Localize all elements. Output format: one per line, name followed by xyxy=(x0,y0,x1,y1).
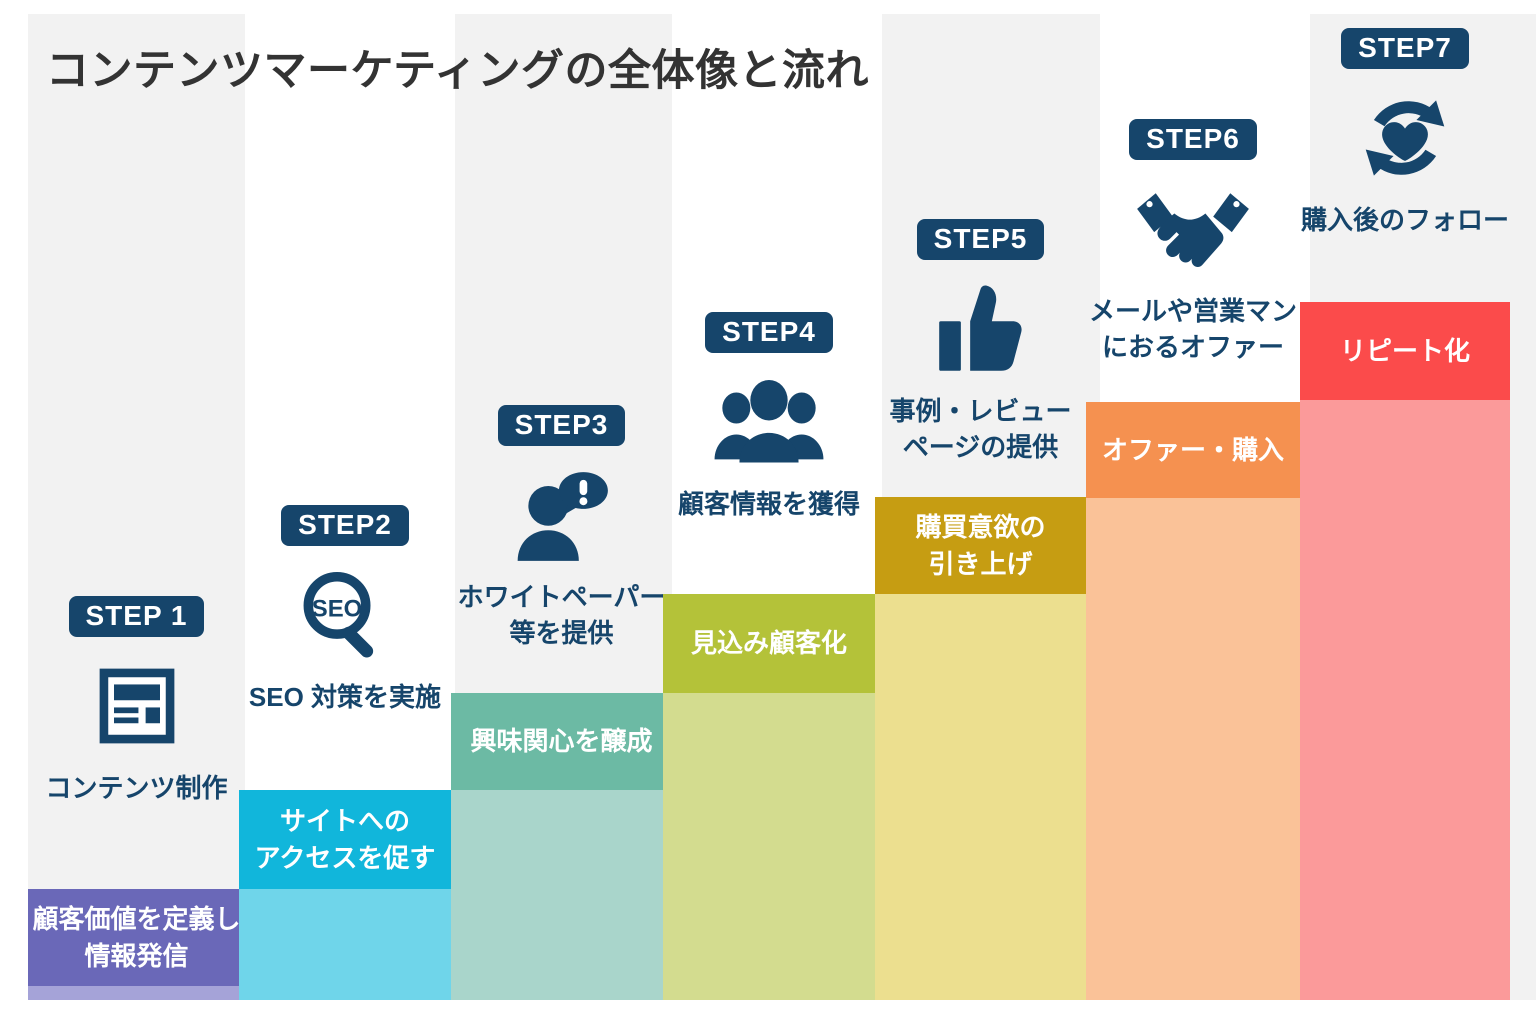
step-bar-2[interactable]: サイトへの アクセスを促す xyxy=(239,790,451,889)
step-bar-5[interactable]: 購買意欲の 引き上げ xyxy=(875,497,1086,594)
step-tail-7 xyxy=(1300,400,1510,1000)
step-tail-2 xyxy=(239,889,451,1000)
step-badge-7[interactable]: STEP7 xyxy=(1341,28,1469,69)
seo-magnifier-icon: SEO xyxy=(239,560,451,670)
step-tail-1 xyxy=(28,986,245,1000)
step-caption-7: 購入後のフォロー xyxy=(1300,203,1510,239)
step-column-7[interactable]: リピート化STEP7 購入後のフォロー xyxy=(1300,0,1510,1000)
step-badge-3[interactable]: STEP3 xyxy=(498,405,626,446)
step-caption-2: SEO 対策を実施 xyxy=(239,680,451,716)
step-badge-5[interactable]: STEP5 xyxy=(917,219,1045,260)
step-caption-1: コンテンツ制作 xyxy=(28,771,245,807)
thumbs-up-icon xyxy=(875,274,1086,384)
step-tail-4 xyxy=(663,693,875,1000)
step-column-6[interactable]: オファー・購入STEP6 メールや営業マン におるオファー xyxy=(1086,0,1300,1000)
step-header-3: STEP3 ホワイトペーパー 等を提供 xyxy=(451,405,672,652)
step-bar-label-5: 購買意欲の 引き上げ xyxy=(915,509,1045,582)
step-bar-label-3: 興味関心を醸成 xyxy=(470,723,652,759)
step-column-5[interactable]: 購買意欲の 引き上げSTEP5 事例・レビュー ページの提供 xyxy=(875,0,1086,1000)
step-tail-5 xyxy=(875,594,1086,1000)
step-bar-label-6: オファー・購入 xyxy=(1102,432,1284,468)
step-bar-3[interactable]: 興味関心を醸成 xyxy=(451,693,672,790)
step-tail-3 xyxy=(451,790,672,1000)
step-column-1[interactable]: 顧客価値を定義し 情報発信STEP 1 コンテンツ制作 xyxy=(28,0,245,1000)
step-bar-label-7: リピート化 xyxy=(1340,333,1470,369)
svg-text:SEO: SEO xyxy=(312,596,362,623)
step-column-3[interactable]: 興味関心を醸成STEP3 ホワイトペーパー 等を提供 xyxy=(451,0,672,1000)
handshake-icon xyxy=(1086,174,1300,284)
person-speech-bubble-icon xyxy=(451,460,672,570)
page-title: コンテンツマーケティングの全体像と流れ xyxy=(46,36,869,98)
step-bar-label-1: 顧客価値を定義し 情報発信 xyxy=(32,901,240,974)
content-document-icon xyxy=(28,651,245,761)
infographic-canvas: コンテンツマーケティングの全体像と流れ 顧客価値を定義し 情報発信STEP 1 … xyxy=(0,0,1536,1022)
step-header-1: STEP 1 コンテンツ制作 xyxy=(28,596,245,807)
step-header-6: STEP6 メールや営業マン におるオファー xyxy=(1086,119,1300,366)
step-tail-6 xyxy=(1086,498,1300,1000)
step-badge-2[interactable]: STEP2 xyxy=(281,505,409,546)
step-caption-4: 顧客情報を獲得 xyxy=(663,487,875,523)
step-badge-6[interactable]: STEP6 xyxy=(1129,119,1257,160)
step-column-2[interactable]: サイトへの アクセスを促すSTEP2 SEOSEO 対策を実施 xyxy=(239,0,451,1000)
step-bar-6[interactable]: オファー・購入 xyxy=(1086,402,1300,498)
step-bar-7[interactable]: リピート化 xyxy=(1300,302,1510,400)
step-header-5: STEP5 事例・レビュー ページの提供 xyxy=(875,219,1086,466)
repeat-heart-icon xyxy=(1300,83,1510,193)
step-badge-1[interactable]: STEP 1 xyxy=(69,596,205,637)
step-column-4[interactable]: 見込み顧客化STEP4 顧客情報を獲得 xyxy=(663,0,875,1000)
step-header-2: STEP2 SEOSEO 対策を実施 xyxy=(239,505,451,716)
step-header-7: STEP7 購入後のフォロー xyxy=(1300,28,1510,239)
step-caption-6: メールや営業マン におるオファー xyxy=(1086,294,1300,366)
step-caption-5: 事例・レビュー ページの提供 xyxy=(875,394,1086,466)
step-bar-4[interactable]: 見込み顧客化 xyxy=(663,594,875,693)
step-caption-3: ホワイトペーパー 等を提供 xyxy=(451,580,672,652)
step-badge-4[interactable]: STEP4 xyxy=(705,312,833,353)
step-bar-1[interactable]: 顧客価値を定義し 情報発信 xyxy=(28,889,245,986)
step-bar-label-2: サイトへの アクセスを促す xyxy=(255,803,436,876)
step-bar-label-4: 見込み顧客化 xyxy=(691,625,847,661)
step-header-4: STEP4 顧客情報を獲得 xyxy=(663,312,875,523)
people-group-icon xyxy=(663,367,875,477)
